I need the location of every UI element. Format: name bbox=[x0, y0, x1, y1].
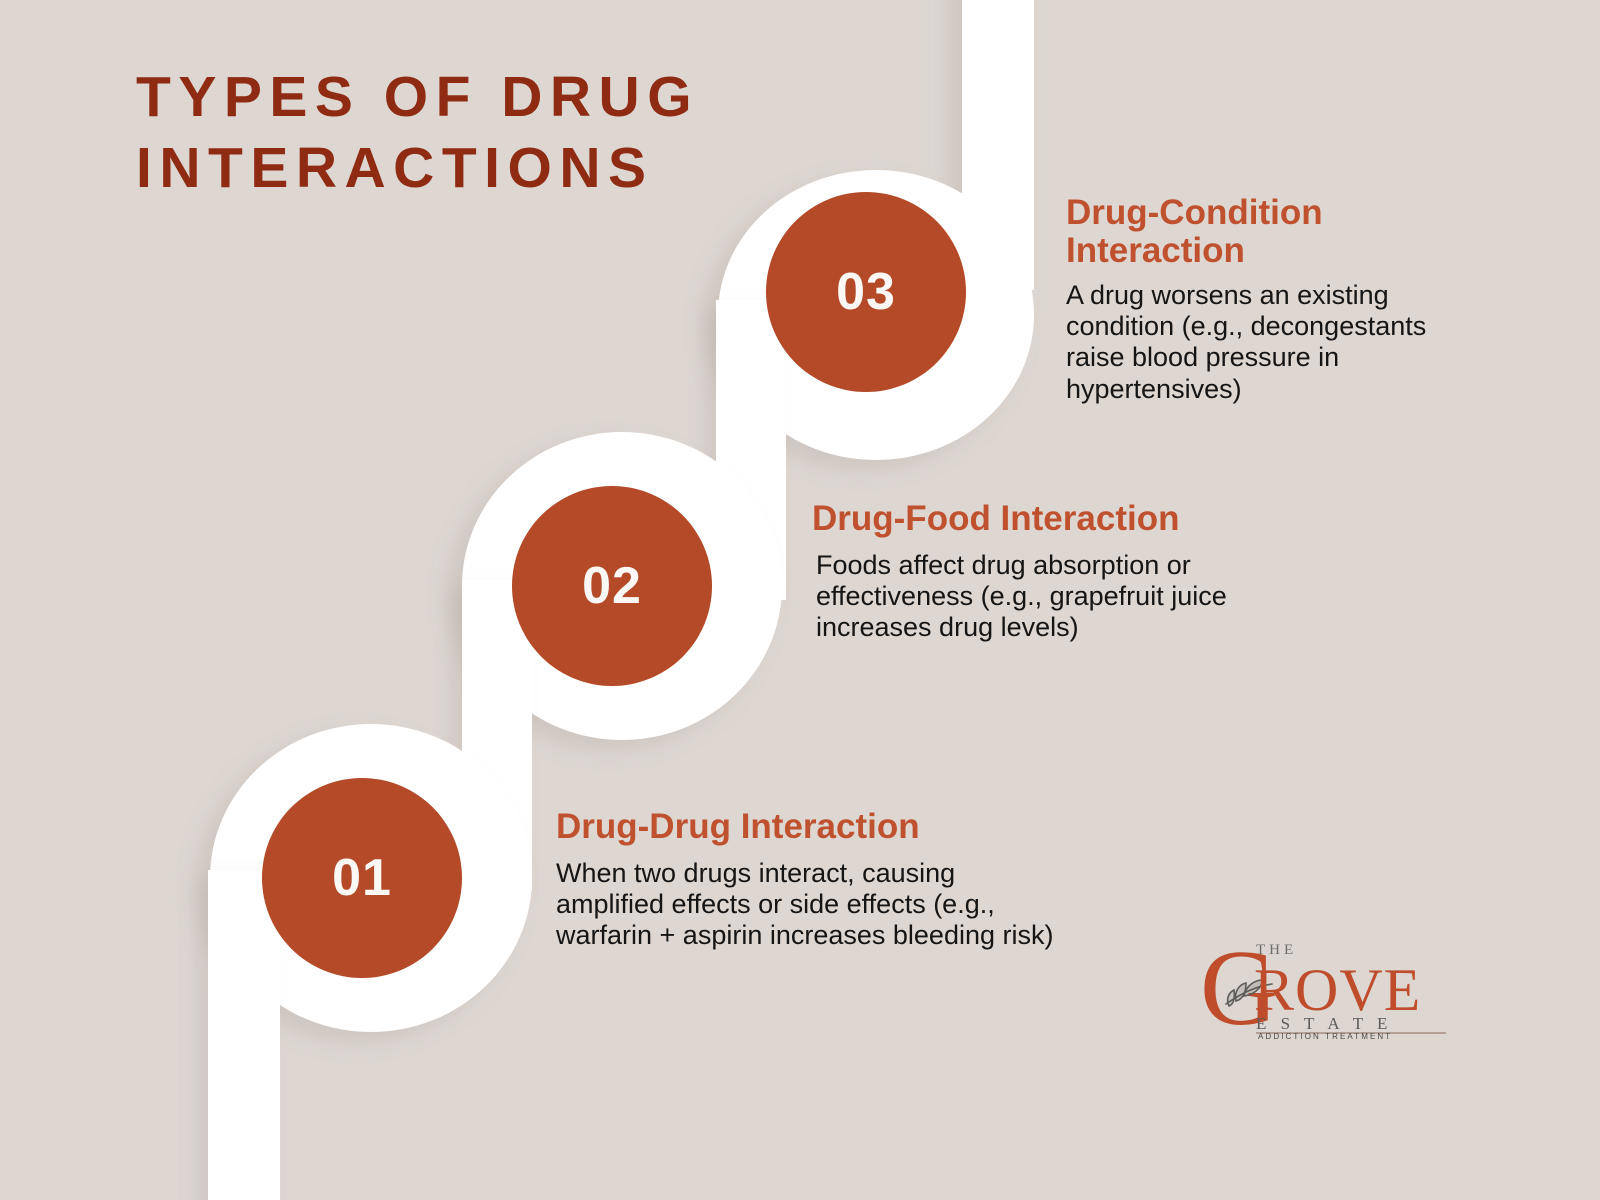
step-number-02: 02 bbox=[512, 486, 712, 686]
step-body-01: When two drugs interact, causing amplifi… bbox=[556, 858, 1056, 952]
infographic-canvas: TYPES OF DRUG INTERACTIONS 03 02 01 Drug… bbox=[0, 0, 1600, 1200]
step-heading-01: Drug-Drug Interaction bbox=[556, 808, 1056, 846]
logo-tagline: ADDICTION TREATMENT bbox=[1258, 1032, 1392, 1040]
step-heading-02: Drug-Food Interaction bbox=[812, 500, 1312, 538]
step-body-02: Foods affect drug absorption or effectiv… bbox=[812, 550, 1312, 644]
step-block-02: Drug-Food Interaction Foods affect drug … bbox=[812, 500, 1312, 644]
brand-logo: G THE ROVE E S T A T E ADDICTION TREATME… bbox=[1196, 928, 1454, 1040]
ribbon-tail bbox=[208, 870, 280, 1200]
step-block-03: Drug-Condition Interaction A drug worsen… bbox=[1066, 194, 1466, 405]
step-block-01: Drug-Drug Interaction When two drugs int… bbox=[556, 808, 1056, 952]
page-title: TYPES OF DRUG INTERACTIONS bbox=[136, 62, 836, 205]
logo-the: THE bbox=[1256, 942, 1297, 958]
logo-estate: E S T A T E bbox=[1256, 1014, 1392, 1033]
step-heading-03: Drug-Condition Interaction bbox=[1066, 194, 1466, 270]
step-body-03: A drug worsens an existing condition (e.… bbox=[1066, 280, 1466, 405]
step-number-01: 01 bbox=[262, 778, 462, 978]
step-number-03: 03 bbox=[766, 192, 966, 392]
